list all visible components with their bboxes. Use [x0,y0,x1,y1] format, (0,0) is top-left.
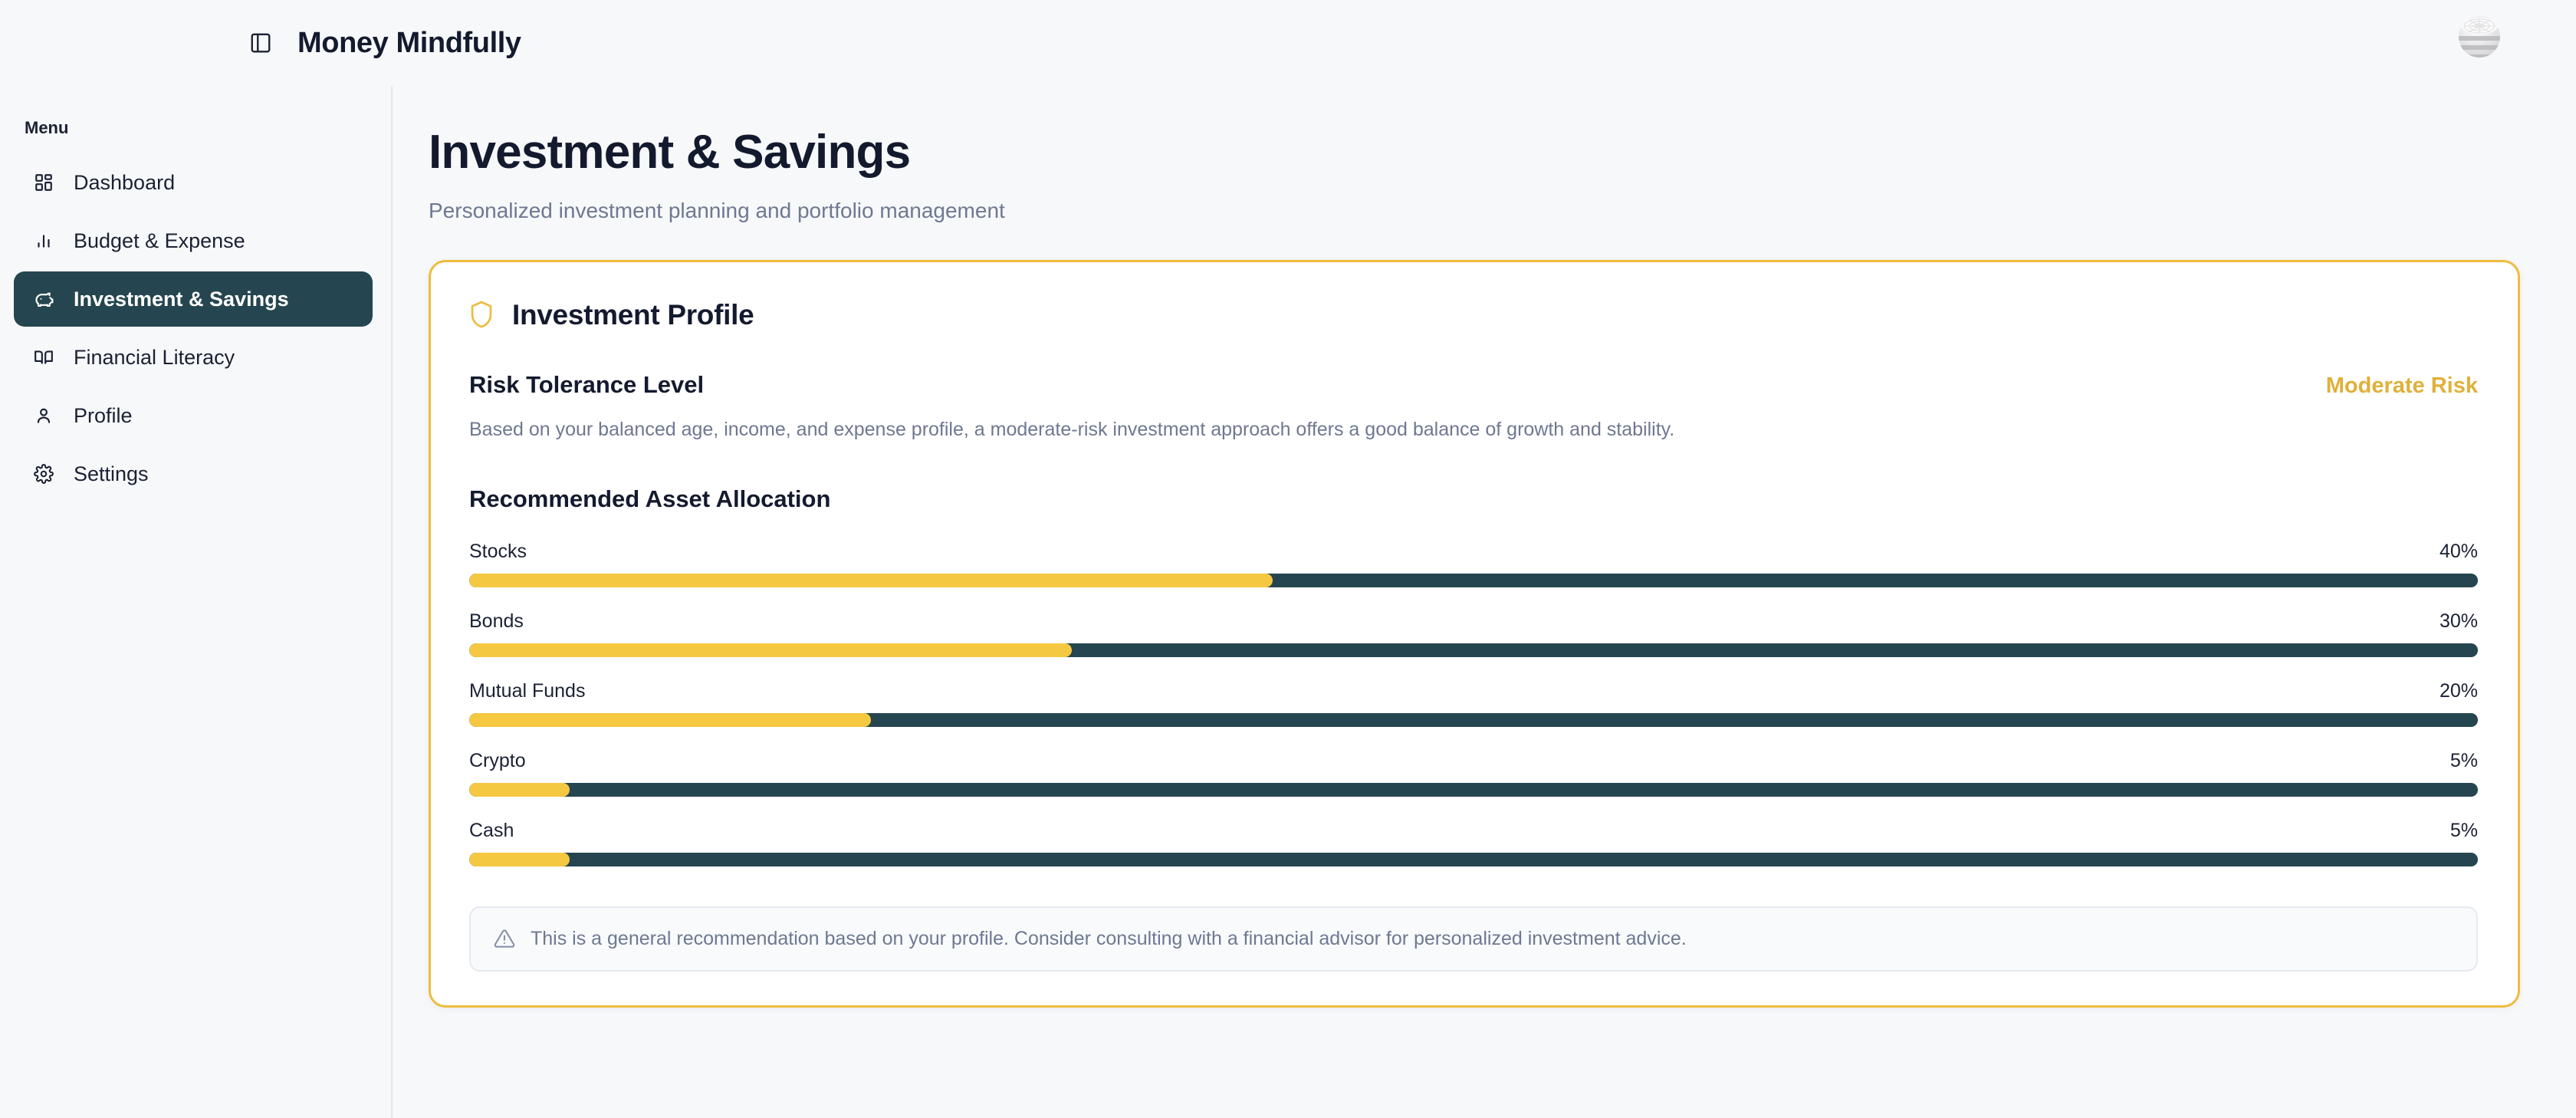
top-bar-left: Money Mindfully [244,26,521,60]
allocation-bar-track [469,574,2478,587]
risk-level-badge: Moderate Risk [2326,373,2478,399]
main-content: Investment & Savings Personalized invest… [394,86,2576,1118]
page-title: Investment & Savings [429,127,2519,179]
sidebar-item-profile[interactable]: Profile [14,388,373,443]
risk-tolerance-heading: Risk Tolerance Level [469,371,704,399]
avatar[interactable] [2453,11,2505,63]
allocation-asset-name: Mutual Funds [469,680,585,702]
allocation-percent: 5% [2450,750,2478,772]
card-header: Investment Profile [469,299,2478,331]
allocation-label-line: Mutual Funds 20% [469,680,2478,702]
allocation-bar-fill [469,783,570,797]
allocation-bar-track [469,853,2478,866]
allocation-row: Bonds 30% [469,610,2478,657]
sidebar-item-budget-expense[interactable]: Budget & Expense [14,213,373,268]
allocation-bar-fill [469,853,570,866]
allocation-percent: 40% [2440,541,2478,563]
disclaimer-box: This is a general recommendation based o… [469,906,2478,972]
sidebar-item-label: Financial Literacy [74,346,235,370]
sidebar-item-financial-literacy[interactable]: Financial Literacy [14,330,373,385]
menu-label: Menu [25,118,391,138]
page-subtitle: Personalized investment planning and por… [429,199,2519,223]
sidebar-item-investment-savings[interactable]: Investment & Savings [14,271,373,327]
card-title: Investment Profile [512,299,754,331]
sidebar-item-label: Settings [74,462,149,486]
allocation-percent: 5% [2450,820,2478,842]
allocation-row: Crypto 5% [469,750,2478,797]
sidebar-item-label: Profile [74,404,133,428]
gear-icon [31,461,57,487]
book-open-icon [31,344,57,370]
warning-triangle-icon [494,928,515,949]
bar-chart-icon [31,228,57,254]
allocation-bar-fill [469,574,1273,587]
allocation-asset-name: Bonds [469,610,524,633]
allocation-percent: 30% [2440,610,2478,633]
grid-icon [31,169,57,196]
allocation-row: Mutual Funds 20% [469,680,2478,727]
allocation-asset-name: Stocks [469,541,527,563]
allocation-bar-track [469,783,2478,797]
panel-toggle-icon[interactable] [244,26,278,60]
allocation-label-line: Cash 5% [469,820,2478,842]
allocation-bar-track [469,713,2478,727]
risk-tolerance-row: Risk Tolerance Level Moderate Risk [469,371,2478,399]
shield-icon [469,300,495,330]
sidebar-item-label: Dashboard [74,171,175,195]
allocation-asset-name: Crypto [469,750,526,772]
allocation-row: Cash 5% [469,820,2478,866]
allocation-label-line: Stocks 40% [469,541,2478,563]
top-bar: Money Mindfully [0,0,2576,86]
allocation-percent: 20% [2440,680,2478,702]
sidebar-item-settings[interactable]: Settings [14,446,373,501]
sidebar-item-label: Budget & Expense [74,229,245,253]
allocation-bar-fill [469,643,1072,657]
allocation-bar-track [469,643,2478,657]
sidebar: Menu Dashboard Budget & Expense Investme… [0,86,393,1118]
allocation-heading: Recommended Asset Allocation [469,485,2478,513]
brand-title: Money Mindfully [297,27,521,60]
disclaimer-text: This is a general recommendation based o… [531,928,1687,950]
allocation-bar-fill [469,713,871,727]
allocation-row: Stocks 40% [469,541,2478,587]
sidebar-item-dashboard[interactable]: Dashboard [14,155,373,210]
investment-profile-card: Investment Profile Risk Tolerance Level … [429,260,2520,1008]
risk-description: Based on your balanced age, income, and … [469,419,2478,441]
sidebar-item-label: Investment & Savings [74,288,289,311]
user-icon [31,403,57,429]
allocation-asset-name: Cash [469,820,514,842]
piggy-bank-icon [31,286,57,312]
allocation-label-line: Crypto 5% [469,750,2478,772]
allocation-label-line: Bonds 30% [469,610,2478,633]
